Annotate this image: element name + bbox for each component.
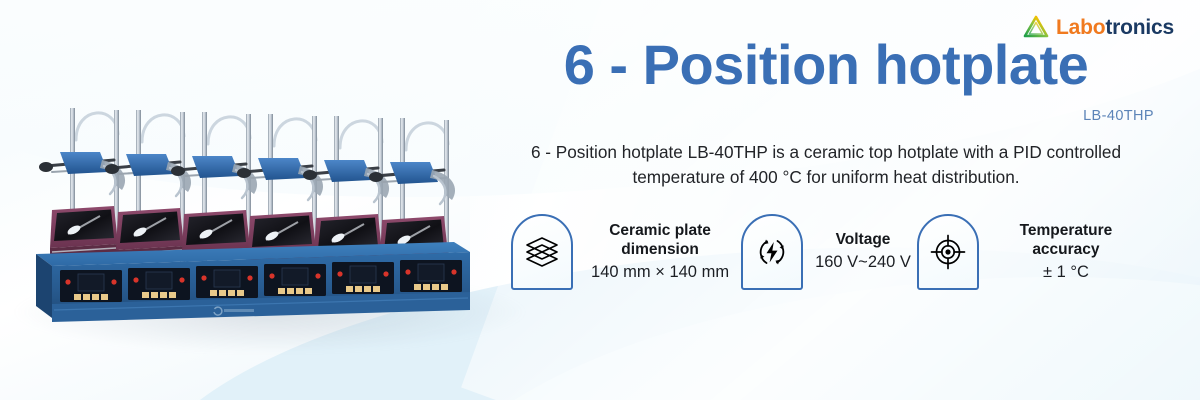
- model-number: LB-40THP: [1083, 108, 1154, 124]
- feature-badge: [741, 214, 803, 290]
- power-bolt-cycle-icon: [754, 234, 790, 270]
- feature-value: 160 V~240 V: [815, 252, 911, 273]
- feature-text: Voltage 160 V~240 V: [815, 231, 911, 273]
- layers-icon: [524, 235, 560, 269]
- feature-value: ± 1 °C: [1043, 262, 1089, 283]
- page-title: 6 - Position hotplate: [564, 36, 1089, 94]
- feature-item-temperature-accuracy: Temperature accuracy ± 1 °C: [917, 214, 1141, 290]
- feature-item-voltage: Voltage 160 V~240 V: [741, 214, 911, 290]
- product-banner: Labotronics: [0, 0, 1200, 400]
- feature-text: Ceramic plate dimension 140 mm × 140 mm: [585, 222, 735, 283]
- feature-badge: [511, 214, 573, 290]
- feature-item-ceramic-plate: Ceramic plate dimension 140 mm × 140 mm: [511, 214, 735, 290]
- feature-label: Ceramic plate dimension: [585, 222, 735, 260]
- feature-list: Ceramic plate dimension 140 mm × 140 mm: [481, 214, 1171, 290]
- feature-text: Temperature accuracy ± 1 °C: [991, 222, 1141, 283]
- product-image: [18, 48, 508, 348]
- feature-label: Temperature accuracy: [991, 222, 1141, 260]
- crosshair-target-icon: [929, 233, 967, 271]
- feature-value: 140 mm × 140 mm: [591, 262, 729, 283]
- content-column: 6 - Position hotplate LB-40THP 6 - Posit…: [470, 0, 1182, 400]
- feature-label: Voltage: [836, 231, 891, 250]
- feature-badge: [917, 214, 979, 290]
- product-description: 6 - Position hotplate LB-40THP is a cera…: [502, 140, 1150, 190]
